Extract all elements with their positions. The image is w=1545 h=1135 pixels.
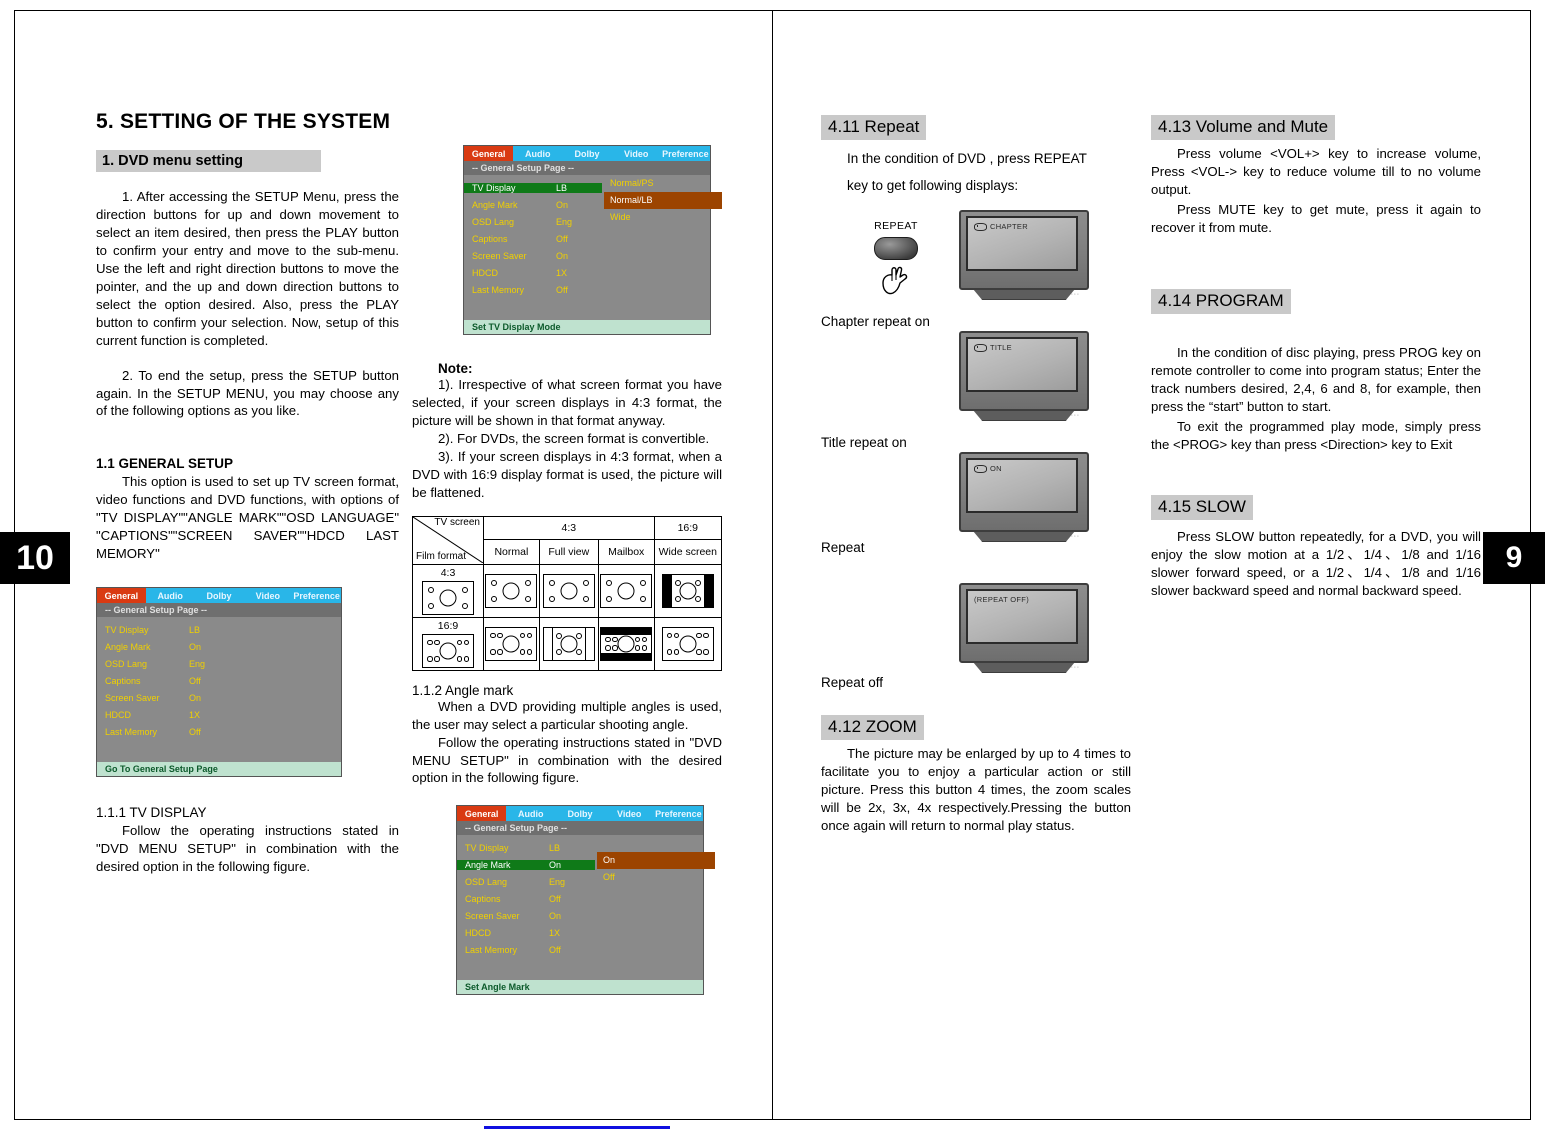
osd-row-value: Off [189,676,235,686]
osd-row-value: LB [556,183,602,193]
cell-43-normal [484,564,540,617]
osd-tab-dolby[interactable]: Dolby [195,588,244,603]
osd-tab-preference[interactable]: Preference [661,146,710,161]
repeat-button[interactable] [874,237,918,260]
osd-row-label: OSD Lang [97,659,189,669]
osd-row-label: Screen Saver [457,911,549,921]
osd-page-title: -- General Setup Page -- [464,161,710,175]
volume-mute-body-1: Press volume <VOL+> key to increase volu… [1151,145,1481,199]
osd-row-label: Captions [97,676,189,686]
note-heading: Note: [438,361,722,376]
pic-169-widescreen [662,627,714,661]
table-col-full-view: Full view [539,539,598,564]
caption-chapter-repeat-on: Chapter repeat on [821,314,930,329]
osd-option-list[interactable]: On Off [597,852,715,886]
left-column: 5. SETTING OF THE SYSTEM 1. DVD menu set… [96,110,399,876]
cell-169-normal [484,617,540,670]
left-page: 5. SETTING OF THE SYSTEM 1. DVD menu set… [14,10,772,1120]
cell-43-widescreen [654,564,721,617]
page-title: 5. SETTING OF THE SYSTEM [96,110,399,134]
osd-tab-general[interactable]: General [464,146,513,161]
cell-43-fullview [539,564,598,617]
disc-icon [974,465,987,473]
tv-osd-readout: CHAPTER [974,222,1028,231]
osd-option-on[interactable]: On [597,852,715,869]
osd-row-label: Last Memory [457,945,549,955]
osd-row-captions[interactable]: CaptionsOff [97,672,341,689]
caption-repeat: Repeat [821,540,865,555]
osd-row-value: 1X [549,928,595,938]
osd-row-captions[interactable]: CaptionsOff [464,230,710,247]
osd-row-value: Off [549,894,595,904]
table-row-43-label: 4:3 [413,567,483,579]
osd-row-screen-saver[interactable]: Screen SaverOn [457,907,703,924]
osd-row-value: Eng [549,877,595,887]
note-item-3: 3). If your screen displays in 4:3 forma… [412,448,722,502]
osd-row-value: On [189,693,235,703]
repeat-heading: 4.11 Repeat [821,115,926,140]
osd-tab-dolby[interactable]: Dolby [555,806,604,821]
osd-tab-general[interactable]: General [457,806,506,821]
angle-mark-heading: 1.1.2 Angle mark [412,683,722,698]
osd-footer-hint: Set Angle Mark [457,980,703,994]
cell-169-widescreen [654,617,721,670]
table-col-normal: Normal [484,539,540,564]
osd-row-label: Last Memory [97,727,189,737]
osd-page-title: -- General Setup Page -- [457,821,703,835]
osd-row-value: Off [549,945,595,955]
table-group-169: 16:9 [654,516,721,539]
left-page-second-column: General Audio Dolby Video Preference -- … [412,145,722,995]
osd-page-title: -- General Setup Page -- [97,603,341,617]
osd-tab-general[interactable]: General [97,588,146,603]
table-header-row: TV screen Film format 4:3 16:9 [413,516,722,539]
volume-mute-body-2: Press MUTE key to get mute, press it aga… [1151,201,1481,237]
table-row-169-label: 16:9 [413,620,483,632]
osd-row-osd-lang[interactable]: OSD LangEng [97,655,341,672]
osd-row-value: On [549,911,595,921]
osd-tab-bar[interactable]: General Audio Dolby Video Preference [97,588,341,603]
repeat-body-line-1: In the condition of DVD , press REPEAT [847,150,1131,168]
osd-row-label: HDCD [97,710,189,720]
angle-mark-body-1: When a DVD providing multiple angles is … [412,698,722,734]
osd-row-list: TV DisplayLB Angle MarkOn OSD LangEng Ca… [464,175,710,298]
osd-row-label: TV Display [457,843,549,853]
program-heading: 4.14 PROGRAM [1151,289,1291,314]
osd-footer-hint: Go To General Setup Page [97,762,341,776]
osd-angle-mark-submenu[interactable]: General Audio Dolby Video Preference -- … [456,805,704,995]
dvd-menu-setting-band: 1. DVD menu setting [96,150,321,172]
tv-base [973,662,1075,673]
caption-title-repeat-on: Title repeat on [821,435,907,450]
slow-heading: 4.15 SLOW [1151,495,1253,520]
osd-row-label: HDCD [464,268,556,278]
film-43-sample [422,581,474,615]
osd-row-value: LB [189,625,235,635]
tv-display-body: Follow the operating instructions stated… [96,822,399,876]
osd-row-value: LB [549,843,595,853]
tv-osd-readout: (REPEAT OFF) [974,595,1029,604]
tv-osd-text: CHAPTER [990,222,1028,231]
osd-row-value: Off [556,285,602,295]
osd-tab-bar[interactable]: General Audio Dolby Video Preference [457,806,703,821]
pic-43-normal [485,574,537,608]
osd-row-hdcd[interactable]: HDCD1X [97,706,341,723]
osd-row-hdcd[interactable]: HDCD1X [457,924,703,941]
cell-169-mailbox [598,617,654,670]
table-row-169: 16:9 [413,617,484,670]
osd-row-label: TV Display [97,625,189,635]
osd-row-label: Captions [457,894,549,904]
osd-row-label: Captions [464,234,556,244]
repeat-remote-button-group[interactable]: REPEAT [861,220,931,299]
disc-icon [974,344,987,352]
setup-paragraph-2: 2. To end the setup, press the SETUP but… [96,367,399,421]
osd-row-screen-saver[interactable]: Screen SaverOn [97,689,341,706]
table-row-43: 4:3 [413,564,484,617]
right-page-first-column: 4.11 Repeat In the condition of DVD , pr… [821,115,1131,196]
osd-row-hdcd[interactable]: HDCD1X [464,264,710,281]
osd-row-label: HDCD [457,928,549,938]
setup-paragraph-1: 1. After accessing the SETUP Menu, press… [96,188,399,350]
slow-body: Press SLOW button repeatedly, for a DVD,… [1151,528,1481,600]
osd-row-label: OSD Lang [457,877,549,887]
osd-row-tv-display[interactable]: TV DisplayLB [97,621,341,638]
osd-option-normal-lb[interactable]: Normal/LB [604,192,722,209]
right-page: 4.11 Repeat In the condition of DVD , pr… [773,10,1531,1120]
osd-option-off[interactable]: Off [597,869,715,886]
pic-43-widescreen [662,574,714,608]
volume-mute-heading: 4.13 Volume and Mute [1151,115,1335,140]
osd-tab-preference[interactable]: Preference [654,806,703,821]
screen-format-table-wrap: TV screen Film format 4:3 16:9 Normal Fu… [412,516,722,671]
osd-tab-audio[interactable]: Audio [506,806,555,821]
disc-icon [974,223,987,231]
tv-screen: (REPEAT OFF) [966,589,1078,644]
osd-tab-audio[interactable]: Audio [146,588,195,603]
osd-tab-video[interactable]: Video [243,588,292,603]
osd-general-setup-page[interactable]: General Audio Dolby Video Preference -- … [96,587,342,777]
osd-row-last-memory[interactable]: Last MemoryOff [97,723,341,740]
table-group-43: 4:3 [484,516,655,539]
osd-tab-preference[interactable]: Preference [292,588,341,603]
table-corner-film-label: Film format [416,552,466,563]
osd-row-label: OSD Lang [464,217,556,227]
tv-osd-readout: ON [974,464,1002,473]
angle-mark-body-2: Follow the operating instructions stated… [412,734,722,788]
osd-row-label: TV Display [464,183,556,193]
osd-row-value: On [556,251,602,261]
osd-row-list: TV DisplayLB Angle MarkOn OSD LangEng Ca… [457,835,703,958]
tv-screen: TITLE [966,337,1078,392]
table-corner-cell: TV screen Film format [413,516,484,564]
tv-illustration-repeat-off: (REPEAT OFF) ◦◦◦◦ [959,583,1089,675]
pic-169-normal [485,627,537,661]
osd-row-label: Screen Saver [97,693,189,703]
table-col-wide-screen: Wide screen [654,539,721,564]
osd-row-value: On [189,642,235,652]
tv-base [973,531,1075,542]
osd-row-label: Angle Mark [464,200,556,210]
film-169-sample [422,634,474,668]
cell-43-mailbox [598,564,654,617]
program-body-2: To exit the programmed play mode, simply… [1151,418,1481,454]
osd-row-label: Last Memory [464,285,556,295]
tv-osd-readout: TITLE [974,343,1012,352]
note-item-2: 2). For DVDs, the screen format is conve… [412,430,722,448]
caption-repeat-off: Repeat off [821,675,883,690]
osd-tv-display-submenu[interactable]: General Audio Dolby Video Preference -- … [463,145,711,335]
osd-row-value: On [556,200,602,210]
general-setup-heading: 1.1 GENERAL SETUP [96,456,399,471]
osd-row-label: Angle Mark [97,642,189,652]
zoom-body: The picture may be enlarged by up to 4 t… [821,745,1131,835]
screen-format-table: TV screen Film format 4:3 16:9 Normal Fu… [412,516,722,671]
osd-tab-audio[interactable]: Audio [513,146,562,161]
tv-screen: CHAPTER [966,216,1078,271]
tv-display-heading: 1.1.1 TV DISPLAY [96,805,399,820]
pic-43-fullview [543,574,595,608]
osd-option-list[interactable]: Normal/PS Normal/LB Wide [604,175,722,226]
table-col-mailbox: Mailbox [598,539,654,564]
osd-row-label: Screen Saver [464,251,556,261]
bottom-blue-rule [484,1126,670,1129]
osd-row-value: 1X [556,268,602,278]
tv-osd-text: ON [990,464,1002,473]
osd-row-last-memory[interactable]: Last MemoryOff [457,941,703,958]
pic-43-mailbox [600,574,652,608]
table-corner-tv-label: TV screen [434,518,480,529]
osd-option-normal-ps[interactable]: Normal/PS [604,175,722,192]
program-body-1: In the condition of disc playing, press … [1151,344,1481,416]
osd-option-wide[interactable]: Wide [604,209,722,226]
osd-tab-dolby[interactable]: Dolby [562,146,611,161]
pointing-hand-icon [879,265,913,299]
tv-osd-text: (REPEAT OFF) [974,595,1029,604]
osd-row-angle-mark[interactable]: Angle MarkOn [97,638,341,655]
osd-footer-hint: Set TV Display Mode [464,320,710,334]
tv-osd-text: TITLE [990,343,1012,352]
general-setup-body: This option is used to set up TV screen … [96,473,399,563]
repeat-body-line-2: key to get following displays: [847,177,1131,195]
osd-row-value: Off [556,234,602,244]
table-row: 16:9 [413,617,722,670]
osd-row-list: TV DisplayLB Angle MarkOn OSD LangEng Ca… [97,617,341,740]
osd-row-captions[interactable]: CaptionsOff [457,890,703,907]
tv-base [973,289,1075,300]
osd-row-value: Off [189,727,235,737]
osd-row-screen-saver[interactable]: Screen SaverOn [464,247,710,264]
osd-tab-video[interactable]: Video [605,806,654,821]
tv-illustration-chapter: CHAPTER ◦◦◦◦ [959,210,1089,302]
note-item-1: 1). Irrespective of what screen format y… [412,376,722,430]
repeat-button-label: REPEAT [861,220,931,232]
tv-base [973,410,1075,421]
cell-169-fullview [539,617,598,670]
tv-illustration-title: TITLE ◦◦◦◦ [959,331,1089,423]
osd-tab-video[interactable]: Video [612,146,661,161]
osd-row-value: 1X [189,710,235,720]
osd-tab-bar[interactable]: General Audio Dolby Video Preference [464,146,710,161]
table-row: 4:3 [413,564,722,617]
osd-row-last-memory[interactable]: Last MemoryOff [464,281,710,298]
osd-row-value: Eng [556,217,602,227]
right-page-second-column: 4.13 Volume and Mute Press volume <VOL+>… [1151,115,1481,600]
tv-screen: ON [966,458,1078,513]
osd-row-label: Angle Mark [457,860,549,870]
pic-169-mailbox [600,627,652,661]
pic-169-fullview [543,627,595,661]
osd-row-value: On [549,860,595,870]
zoom-heading: 4.12 ZOOM [821,715,924,740]
osd-row-value: Eng [189,659,235,669]
tv-illustration-on: ON ◦◦◦◦ [959,452,1089,544]
